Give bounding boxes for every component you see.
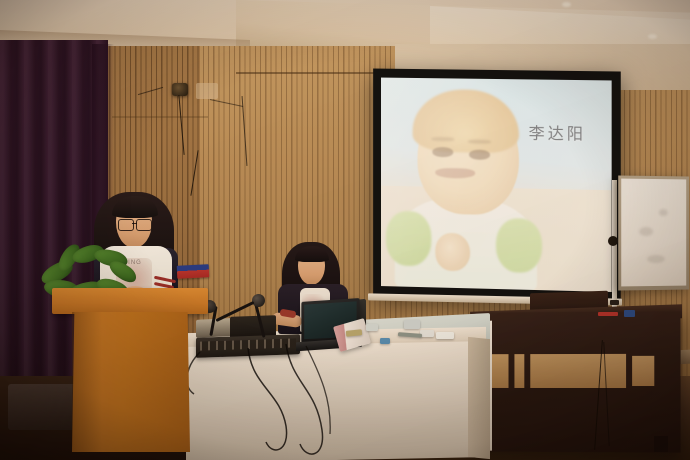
presenter-glasses-left-lens xyxy=(118,219,134,231)
desk-cables xyxy=(180,330,490,460)
whiteboard-smudge xyxy=(659,209,668,216)
whiteboard-smudge xyxy=(639,227,653,236)
whiteboard-smudge xyxy=(647,255,665,263)
piano-top-marker xyxy=(598,312,618,316)
whiteboard-surface xyxy=(621,179,686,287)
ceiling-light-fixture xyxy=(562,2,571,7)
presenter-glasses-bridge xyxy=(132,223,137,224)
piano-cutout xyxy=(530,354,626,388)
projection-screen-surface: 李达阳 xyxy=(381,78,612,292)
podium-top xyxy=(52,288,208,314)
whiteboard-adjust-knob[interactable] xyxy=(608,236,618,246)
screen-glare xyxy=(381,78,612,292)
piano-cutout xyxy=(632,356,654,386)
whiteboard xyxy=(618,175,689,290)
wall-speaker-icon xyxy=(172,83,188,96)
wall-seam xyxy=(236,72,378,74)
piano-cutout xyxy=(514,354,524,388)
projection-screen: 李达阳 xyxy=(373,69,621,304)
piano xyxy=(471,311,681,452)
desk-item-box xyxy=(404,320,420,329)
presenter-glasses-right-lens xyxy=(136,219,152,231)
podium-name-plate xyxy=(177,264,210,279)
microphone-head xyxy=(252,294,265,307)
wall-seam xyxy=(112,116,208,118)
photo-scene: 李达阳 xyxy=(0,0,690,460)
wall-plate xyxy=(196,83,218,99)
whiteboard-clip xyxy=(610,300,619,305)
ceiling-light-fixture xyxy=(648,34,657,39)
podium-shading xyxy=(72,312,102,452)
piano-leg xyxy=(654,436,668,452)
piano-top-object xyxy=(624,310,635,317)
